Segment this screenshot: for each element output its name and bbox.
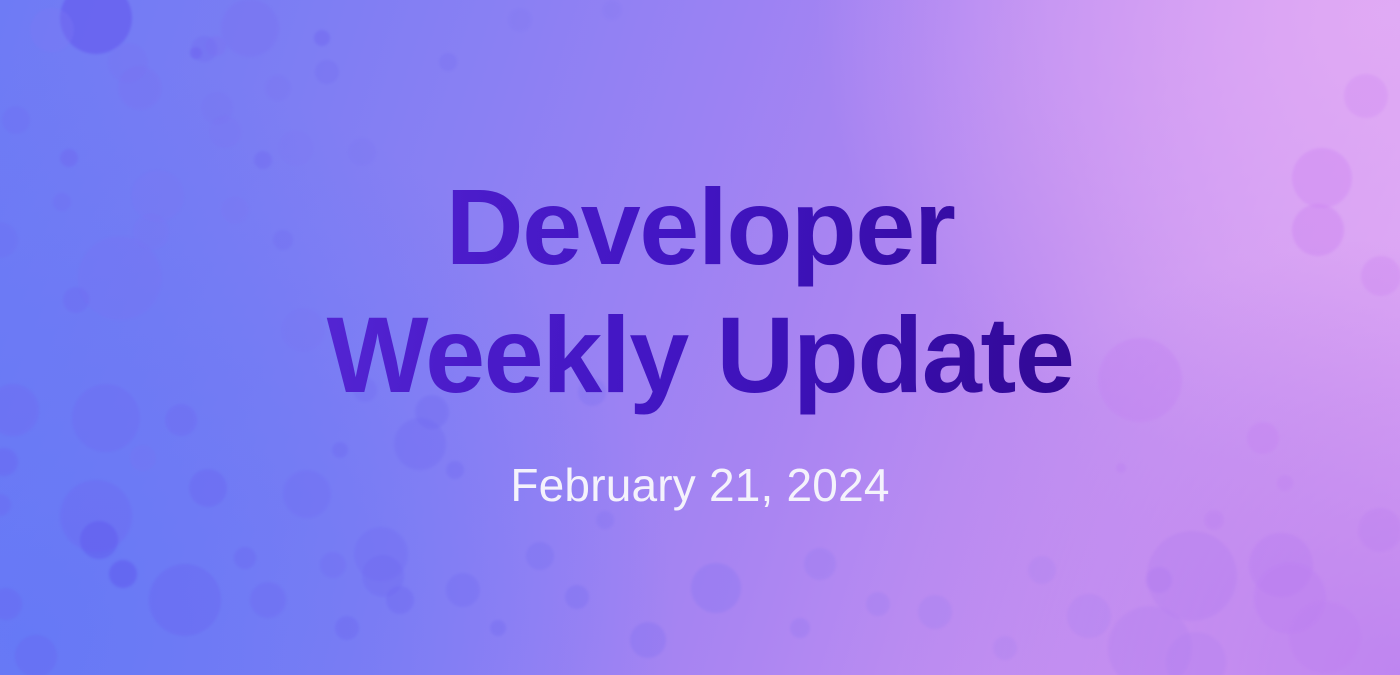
slide-content: Developer Weekly Update February 21, 202… [0, 0, 1400, 675]
page-title: Developer Weekly Update [317, 163, 1084, 418]
slide-date: February 21, 2024 [510, 458, 889, 512]
title-line-1: Developer [327, 163, 1074, 290]
presentation-title-slide: Developer Weekly Update February 21, 202… [0, 0, 1400, 675]
title-line-2: Weekly Update [327, 291, 1074, 418]
